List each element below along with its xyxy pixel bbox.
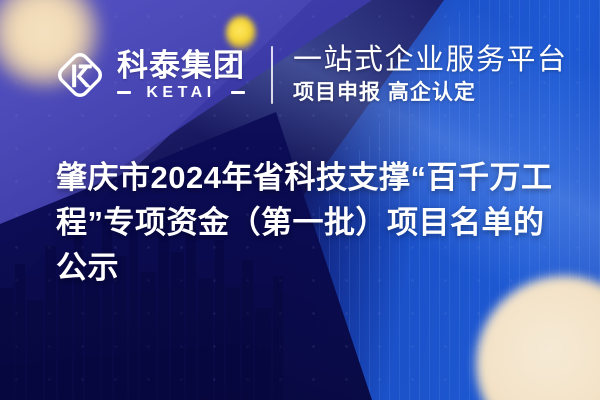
announcement-banner: 科泰集团 KETAI 一站式企业服务平台 项目申报 高企认定 肇庆市2024年省… — [0, 0, 600, 400]
company-logo[interactable]: 科泰集团 KETAI — [52, 47, 245, 103]
ketai-diamond-kt-monogram-icon — [52, 47, 108, 103]
logo-company-name-en-row: KETAI — [117, 85, 245, 101]
tagline-block: 一站式企业服务平台 项目申报 高企认定 — [293, 44, 568, 107]
logo-company-name-cn: 科泰集团 — [117, 50, 245, 82]
banner-header: 科泰集团 KETAI 一站式企业服务平台 项目申报 高企认定 — [52, 44, 568, 107]
logo-wordmark: 科泰集团 KETAI — [117, 50, 245, 101]
dash-left-icon — [117, 91, 131, 94]
page-title: 肇庆市2024年省科技支撑“百千万工程”专项资金（第一批）项目名单的公示 — [56, 155, 556, 290]
tagline-sub: 项目申报 高企认定 — [293, 80, 568, 106]
tagline-main: 一站式企业服务平台 — [293, 44, 568, 76]
vertical-divider-icon — [271, 46, 273, 104]
logo-company-name-en: KETAI — [136, 85, 226, 101]
dash-right-icon — [231, 91, 245, 94]
